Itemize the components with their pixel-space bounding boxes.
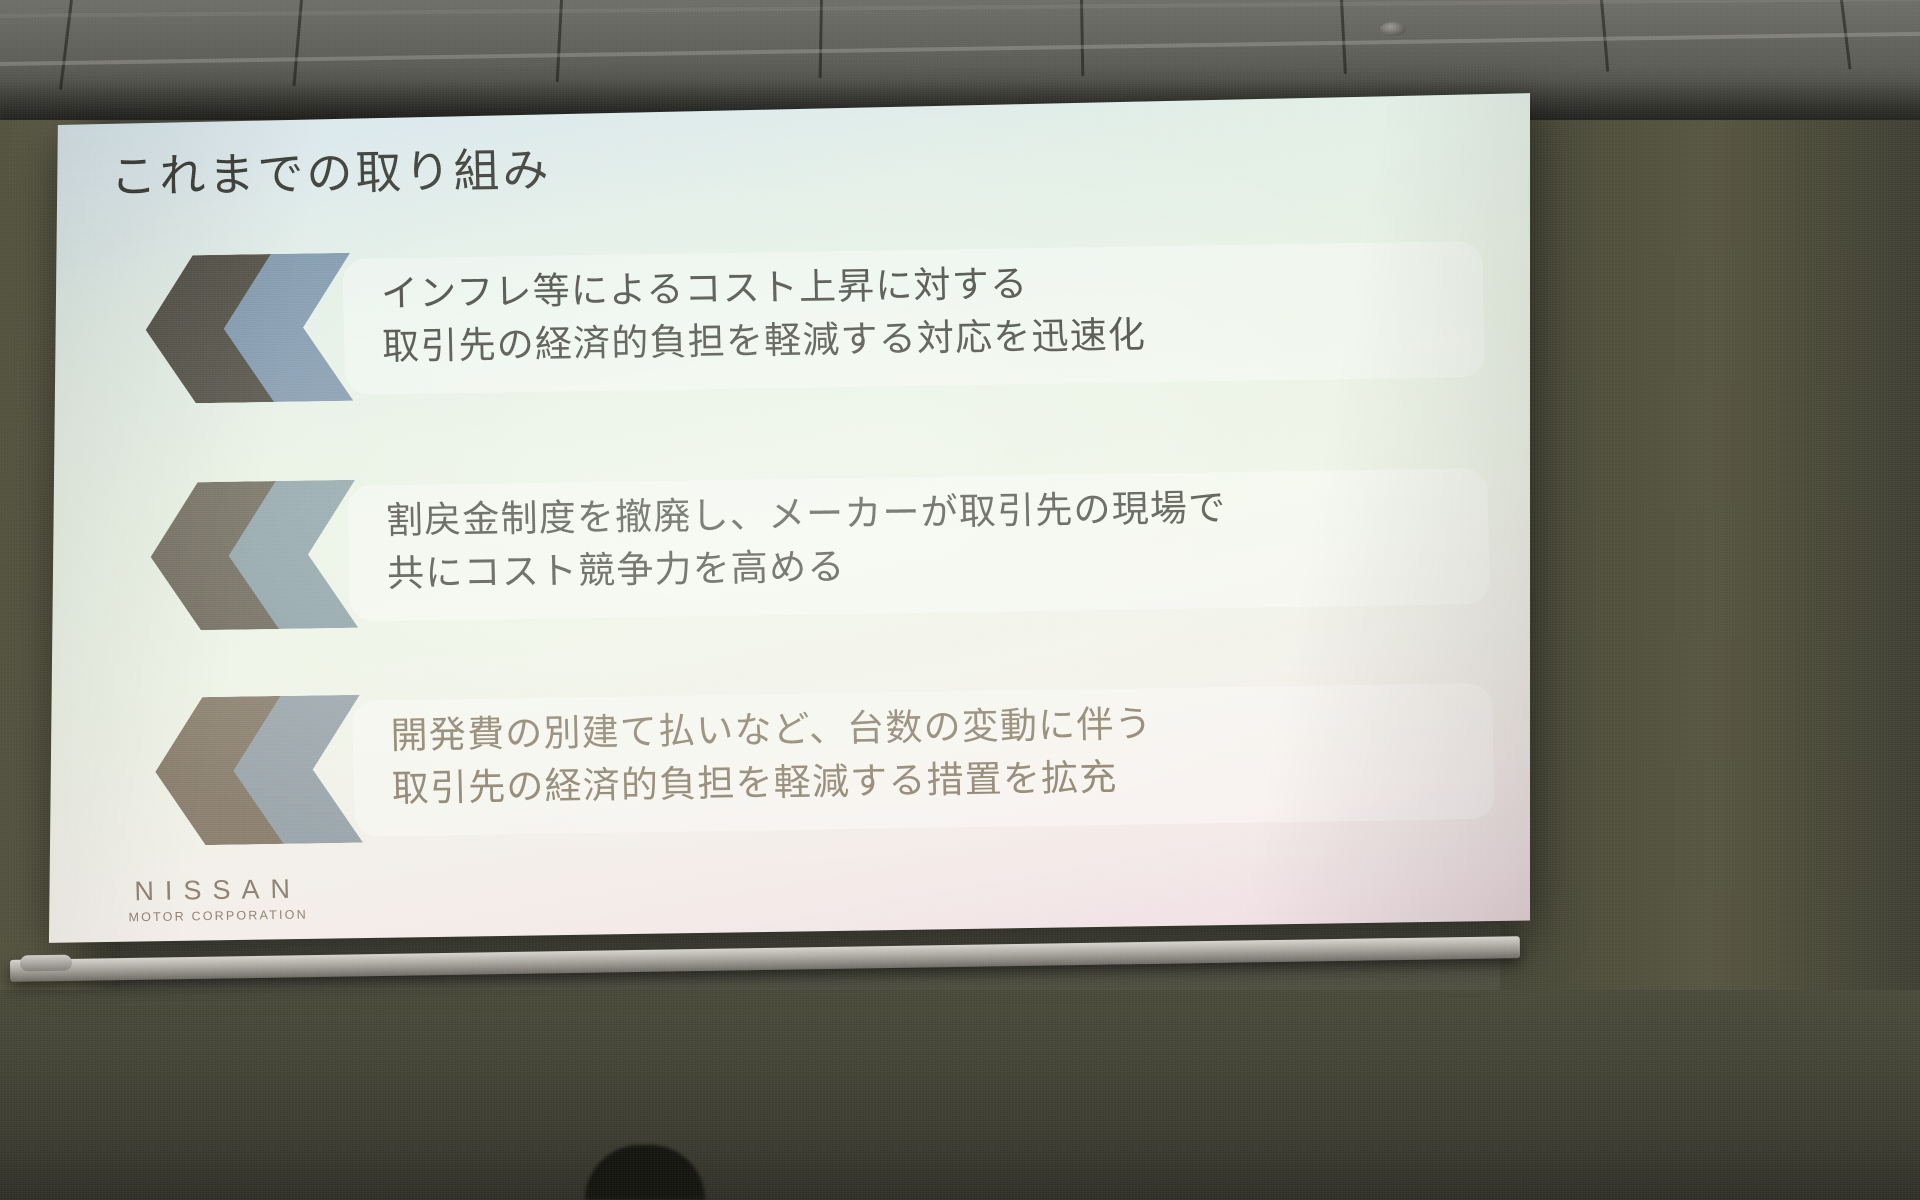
bullet-row-2: 割戻金制度を撤廃し、メーカーが取引先の現場で 共にコスト競争力を高める <box>149 463 1422 633</box>
nissan-logo-subtitle: MOTOR CORPORATION <box>128 908 308 925</box>
slide-title: これまでの取り組み <box>110 144 552 204</box>
bullet-text-1: インフレ等によるコスト上昇に対する 取引先の経済的負担を軽減する対応を迅速化 <box>380 251 1472 373</box>
slide-canvas: これまでの取り組み インフレ等によるコスト上昇に対する 取引先の経済的負担を軽減… <box>40 88 1530 948</box>
projection-screen: これまでの取り組み インフレ等によるコスト上昇に対する 取引先の経済的負担を軽減… <box>40 88 1530 948</box>
wall-bottom <box>0 990 1920 1200</box>
meeting-room-scene: これまでの取り組み インフレ等によるコスト上昇に対する 取引先の経済的負担を軽減… <box>0 0 1920 1200</box>
bullet-row-3: 開発費の別建て払いなど、台数の変動に伴う 取引先の経済的負担を軽減する措置を拡充 <box>154 678 1427 848</box>
bullet-text-2: 割戻金制度を撤廃し、メーカーが取引先の現場で 共にコスト競争力を高める <box>385 478 1477 600</box>
smoke-detector-icon <box>1380 22 1406 36</box>
nissan-logo: NISSAN MOTOR CORPORATION <box>128 874 308 925</box>
bullet-text-3: 開発費の別建て払いなど、台数の変動に伴う 取引先の経済的負担を軽減する措置を拡充 <box>390 693 1482 815</box>
bullet-row-1: インフレ等によるコスト上昇に対する 取引先の経済的負担を軽減する対応を迅速化 <box>144 236 1417 406</box>
nissan-logo-wordmark: NISSAN <box>128 874 308 908</box>
screen-pull-knob <box>20 955 72 972</box>
